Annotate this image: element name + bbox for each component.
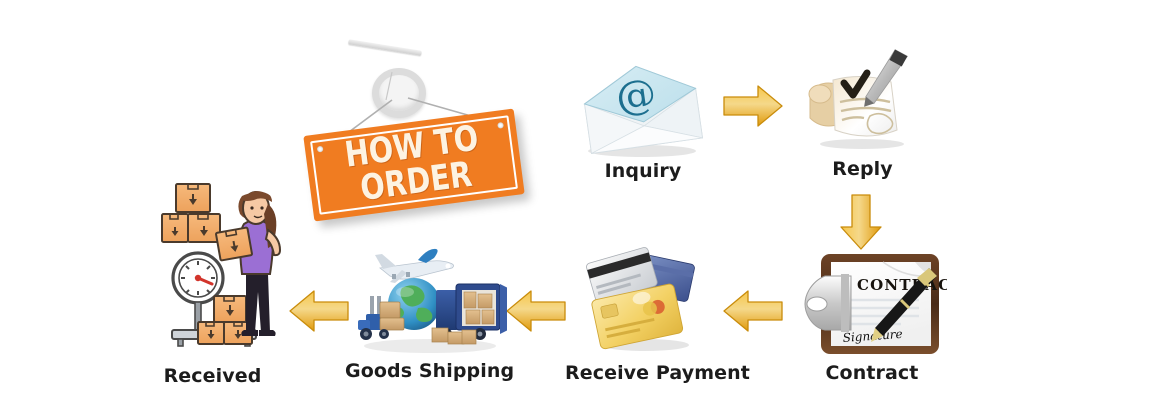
label-received: Received xyxy=(150,365,275,387)
woman-boxes-scale-icon xyxy=(160,178,285,358)
at-symbol: @ xyxy=(613,70,659,121)
received-illustration xyxy=(160,178,285,358)
how-to-order-sign: HOW TO ORDER xyxy=(300,30,545,235)
globe-plane-truck-forklift-icon xyxy=(352,242,507,357)
label-inquiry: Inquiry xyxy=(578,160,708,182)
arrow-inquiry-to-reply xyxy=(722,83,784,134)
sign-hole-left xyxy=(317,146,324,153)
arrow-shipping-to-received xyxy=(288,288,350,339)
arrow-contract-to-payment xyxy=(722,288,784,339)
reply-illustration xyxy=(800,48,925,153)
receive-payment-illustration xyxy=(585,245,705,355)
credit-cards-icon xyxy=(585,245,705,355)
sign-hole-right xyxy=(497,122,504,129)
inquiry-illustration: @ xyxy=(578,52,708,157)
arrow-payment-to-shipping xyxy=(505,288,567,339)
document-check-pen-icon xyxy=(800,48,925,153)
label-receive-payment: Receive Payment xyxy=(565,362,730,384)
goods-shipping-illustration xyxy=(352,242,507,357)
label-contract: Contract xyxy=(797,362,947,384)
envelope-at-icon: @ xyxy=(578,52,708,157)
label-goods-shipping: Goods Shipping xyxy=(345,360,510,382)
label-reply: Reply xyxy=(800,158,925,180)
arrow-reply-to-contract xyxy=(838,193,884,256)
contract-illustration: CONTRACT Signature xyxy=(797,248,947,360)
clipboard-contract-pen-icon: CONTRACT Signature xyxy=(797,248,947,360)
sign-title: HOW TO ORDER xyxy=(323,119,504,211)
how-to-order-infographic: HOW TO ORDER xyxy=(0,0,1151,414)
